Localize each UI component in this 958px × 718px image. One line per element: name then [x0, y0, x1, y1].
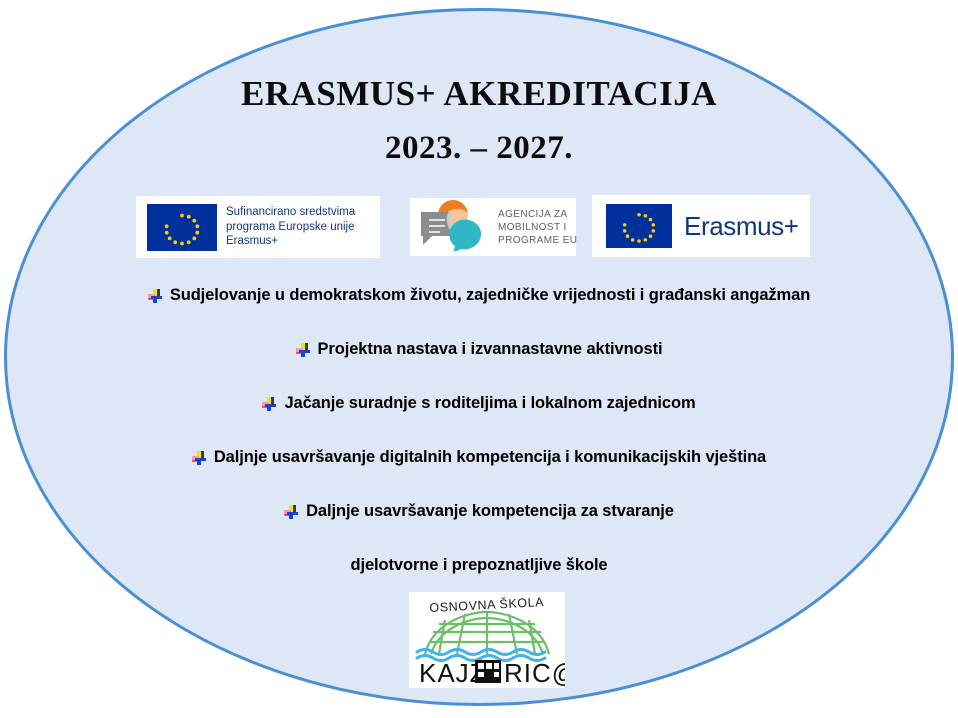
- arrow-bullet-icon: [148, 289, 162, 303]
- list-item-label: djelotvorne i prepoznatljive škole: [351, 554, 608, 576]
- list-item-label: Jačanje suradnje s roditeljima i lokalno…: [284, 392, 695, 414]
- erasmus-wordmark: Erasmus+: [684, 211, 799, 242]
- agency-line3: PROGRAME EU: [498, 234, 577, 247]
- poster-title-line1: ERASMUS+ AKREDITACIJA: [0, 72, 958, 116]
- list-item-label: Daljnje usavršavanje digitalnih kompeten…: [214, 446, 766, 468]
- eu-flag-icon: [606, 204, 672, 248]
- list-item: Jačanje suradnje s roditeljima i lokalno…: [0, 392, 958, 446]
- poster-root: ERASMUS+ AKREDITACIJA 2023. – 2027.: [0, 0, 958, 718]
- list-item: Sudjelovanje u demokratskom životu, zaje…: [0, 284, 958, 338]
- eu-cofunded-text: Sufinancirano sredstvima programa Europs…: [226, 205, 355, 249]
- school-building-icon: [475, 660, 501, 683]
- speech-bubbles-icon: [416, 199, 492, 256]
- poster-title-line2: 2023. – 2027.: [0, 124, 958, 172]
- eu-flag-icon: [147, 204, 217, 251]
- arrow-bullet-icon: [296, 343, 310, 357]
- title-block: ERASMUS+ AKREDITACIJA 2023. – 2027.: [0, 72, 958, 172]
- agency-line1: AGENCIJA ZA: [498, 208, 577, 221]
- list-item: Daljnje usavršavanje kompetencija za stv…: [0, 500, 958, 554]
- agency-line2: MOBILNOST I: [498, 221, 577, 234]
- list-item-label: Projektna nastava i izvannastavne aktivn…: [318, 338, 663, 360]
- list-item: Projektna nastava i izvannastavne aktivn…: [0, 338, 958, 392]
- arrow-bullet-icon: [192, 451, 206, 465]
- eu-cofunded-line3: Erasmus+: [226, 234, 355, 249]
- list-item-label: Sudjelovanje u demokratskom životu, zaje…: [170, 284, 810, 306]
- list-item-label: Daljnje usavršavanje kompetencija za stv…: [306, 500, 674, 522]
- arrow-bullet-icon: [262, 397, 276, 411]
- agency-text: AGENCIJA ZA MOBILNOST I PROGRAME EU: [498, 208, 577, 247]
- arrow-bullet-icon: [284, 505, 298, 519]
- erasmus-plus-logo: Erasmus+: [592, 195, 810, 257]
- list-item: Daljnje usavršavanje digitalnih kompeten…: [0, 446, 958, 500]
- logo-row: Sufinancirano sredstvima programa Europs…: [0, 196, 958, 260]
- svg-text:RIC@: RIC@: [504, 658, 565, 688]
- eu-cofunded-line1: Sufinancirano sredstvima: [226, 205, 355, 220]
- agencija-za-mobilnost-logo: AGENCIJA ZA MOBILNOST I PROGRAME EU: [410, 198, 576, 256]
- eu-cofunded-line2: programa Europske unije: [226, 220, 355, 235]
- osnovna-skola-kajzerica-logo: OSNOVNA ŠKOLA: [409, 592, 565, 688]
- objectives-list: Sudjelovanje u demokratskom životu, zaje…: [0, 284, 958, 608]
- poster-content: ERASMUS+ AKREDITACIJA 2023. – 2027.: [0, 0, 958, 718]
- eu-cofunded-logo: Sufinancirano sredstvima programa Europs…: [136, 196, 380, 258]
